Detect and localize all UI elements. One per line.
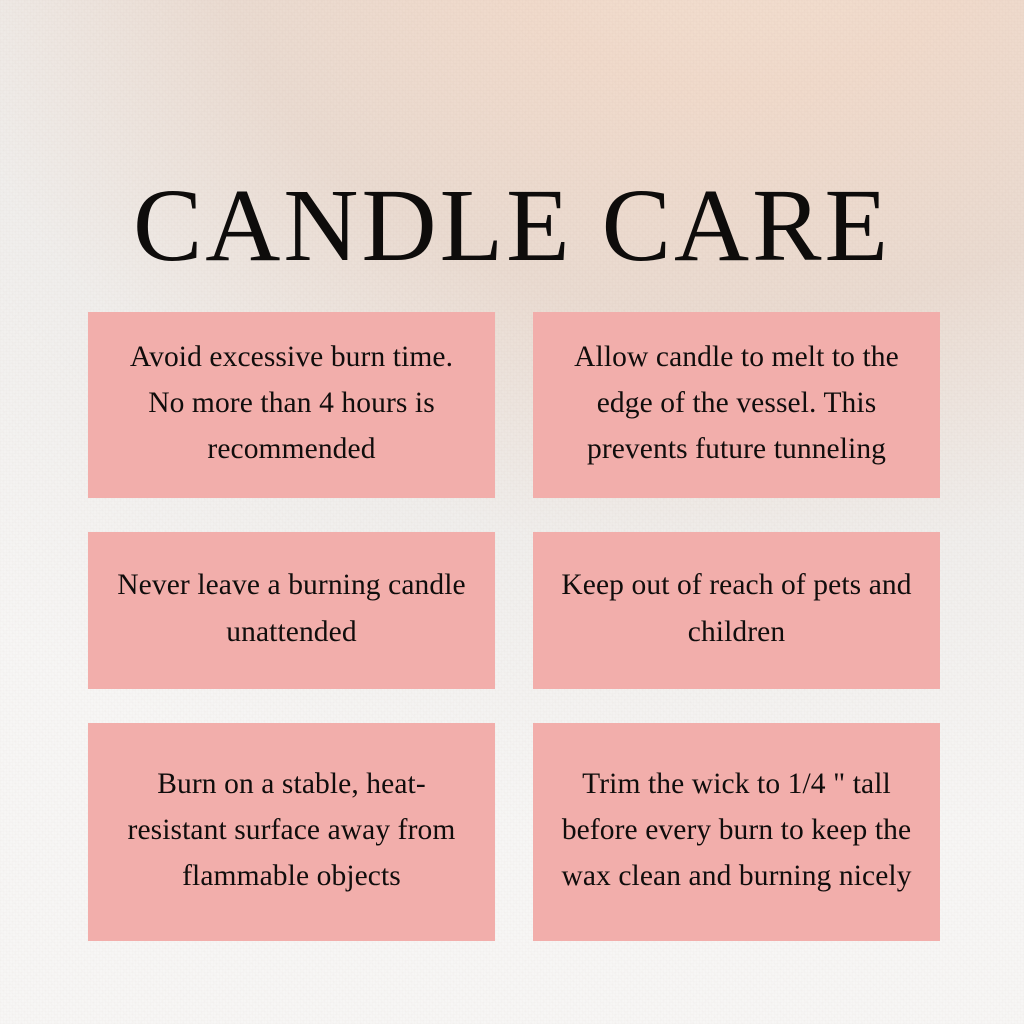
candle-care-card: CANDLE CARE Avoid excessive burn time. N…	[0, 0, 1024, 1024]
care-tip-text: Trim the wick to 1/4 " tall before every…	[559, 761, 914, 899]
care-tip-text: Never leave a burning candle unattended	[114, 562, 469, 654]
page-title: CANDLE CARE	[0, 174, 1024, 278]
care-tip-trim-wick: Trim the wick to 1/4 " tall before every…	[533, 723, 940, 941]
care-tip-full-melt-pool: Allow candle to melt to the edge of the …	[533, 312, 940, 498]
care-tip-keep-away: Keep out of reach of pets and children	[533, 532, 940, 689]
care-tip-text: Burn on a stable, heat-resistant surface…	[114, 761, 469, 899]
care-tip-text: Keep out of reach of pets and children	[559, 562, 914, 654]
care-tip-burn-time: Avoid excessive burn time. No more than …	[88, 312, 495, 498]
care-tip-text: Allow candle to melt to the edge of the …	[559, 334, 914, 472]
care-tip-stable-surface: Burn on a stable, heat-resistant surface…	[88, 723, 495, 941]
care-tip-text: Avoid excessive burn time. No more than …	[114, 334, 469, 472]
care-tips-grid: Avoid excessive burn time. No more than …	[88, 312, 940, 941]
care-tip-never-unattended: Never leave a burning candle unattended	[88, 532, 495, 689]
